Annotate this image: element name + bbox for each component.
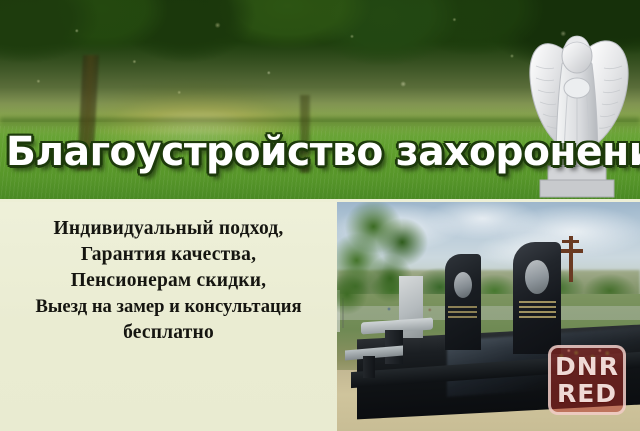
dnr-red-watermark: DNR RED bbox=[548, 345, 626, 415]
headstone-secondary-portrait bbox=[454, 272, 472, 298]
benefit-line-5: бесплатно bbox=[0, 320, 337, 346]
cross-icon bbox=[559, 236, 583, 282]
lower-section: Индивидуальный подход, Гарантия качества… bbox=[0, 202, 640, 431]
benefit-line-2: Гарантия качества, bbox=[0, 242, 337, 268]
granite-bench-leg bbox=[363, 356, 375, 378]
watermark-line-2: RED bbox=[557, 380, 617, 407]
advertisement-card: Благоустройство захоронений Индивидуальн… bbox=[0, 0, 640, 431]
benefits-text-block: Индивидуальный подход, Гарантия качества… bbox=[0, 216, 337, 346]
headstone-main-portrait bbox=[525, 260, 549, 294]
benefit-line-3: Пенсионерам скидки, bbox=[0, 268, 337, 294]
headstone-main bbox=[513, 242, 561, 354]
benefit-line-1: Индивидуальный подход, bbox=[0, 216, 337, 242]
headstone-secondary-inscription bbox=[448, 306, 477, 320]
headstone-main-inscription bbox=[519, 301, 556, 321]
watermark-line-1: DNR bbox=[555, 353, 619, 380]
copy-panel: Индивидуальный подход, Гарантия качества… bbox=[0, 202, 337, 431]
benefit-line-4: Выезд на замер и консультация bbox=[0, 294, 337, 320]
photo-foreground-tree bbox=[337, 202, 443, 328]
banner-hero: Благоустройство захоронений bbox=[0, 0, 640, 199]
page-title: Благоустройство захоронений bbox=[6, 130, 535, 174]
headstone-secondary bbox=[445, 254, 481, 350]
